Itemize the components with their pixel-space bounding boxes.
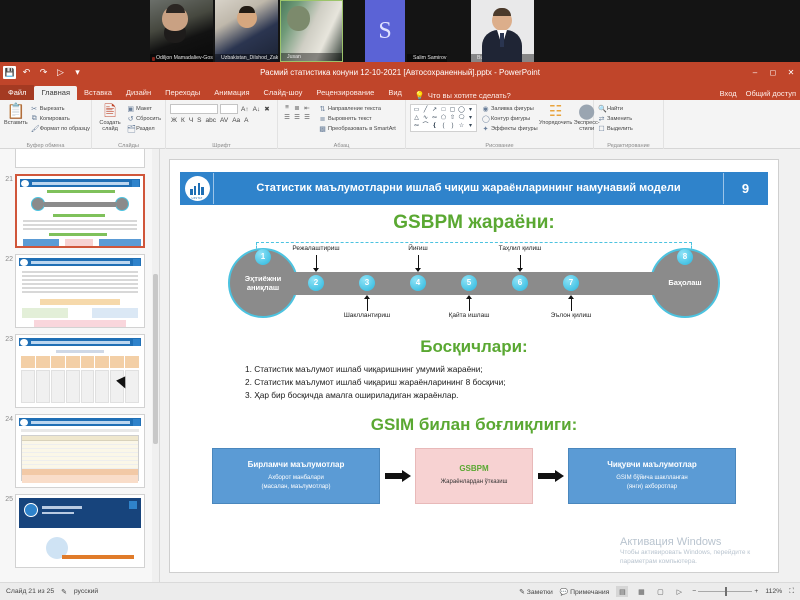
thumb-logo-icon: [21, 180, 29, 187]
step-number-3: 3: [359, 275, 375, 291]
align-text-icon: ≣: [319, 115, 326, 123]
thumbnail-item[interactable]: 23: [0, 331, 159, 411]
thumbnail-preview[interactable]: [15, 254, 145, 328]
paste-label: Вставить: [4, 120, 28, 126]
font-name-input[interactable]: [170, 104, 218, 114]
paste-button[interactable]: 📋 Вставить: [4, 104, 28, 126]
flow-arrow-1: [380, 470, 415, 482]
tab-slideshow[interactable]: Слайд-шоу: [257, 86, 310, 100]
thumbnail-number: 22: [2, 254, 13, 263]
ribbon-group-clipboard: 📋 Вставить ✂ Вырезать ⧉ Копировать 🖌 Фор…: [0, 100, 92, 149]
pointer-arrow: [364, 295, 370, 299]
paste-icon: 📋: [7, 104, 26, 119]
shape-outline-button[interactable]: ◯ Контур фигуры: [482, 115, 538, 123]
thumb-header: [20, 179, 140, 187]
thumbnail-item[interactable]: 24: [0, 411, 159, 491]
stages-list: 1. Статистик маълумот ишлаб чиқаришнинг …: [245, 363, 738, 402]
shape-gallery-more-icon[interactable]: ▾: [466, 114, 475, 122]
slide-sorter-view-button[interactable]: ▦: [635, 586, 647, 597]
windows-activation-watermark: Активация Windows Чтобы активировать Win…: [620, 536, 770, 566]
thumb-header: [19, 418, 141, 426]
shape-rect-icon[interactable]: ▭: [412, 106, 421, 114]
quick-access-toolbar[interactable]: 💾 ↶ ↷ ▷ ▾: [0, 66, 84, 79]
shape-gallery[interactable]: ▭ ╱ ↗ □ ▢ ◯ ▾ △ ∿ ∾ ⬠ ⇧ 🗨 ▾ ∾ ⌒ ❴: [410, 104, 477, 132]
section-heading-gsbpm: GSBPM жараёни:: [170, 212, 778, 234]
thumb-header: [19, 338, 141, 346]
sign-in-label[interactable]: Вход: [720, 89, 737, 98]
arrow-head: [402, 470, 411, 482]
align-text-button[interactable]: ≣ Выровнять текст: [319, 115, 396, 123]
convert-smartart-button[interactable]: ▩ Преобразовать в SmartArt: [319, 125, 396, 133]
video-tile[interactable]: Salim Samirov: [407, 0, 447, 62]
flow-box-title: GSBPM: [459, 464, 488, 473]
ribbon-group-editing: 🔍 Найти ⇄ Заменить ☐ Выделить Редактиров…: [594, 100, 664, 149]
shape-pentagon-icon[interactable]: ⬠: [439, 114, 448, 122]
thumbnail-number: 21: [2, 174, 13, 183]
thumb-number-box: [133, 259, 140, 266]
arrange-button[interactable]: ☷ Упорядочить: [541, 104, 571, 126]
flow-box-output: Чиқувчи маълумотлар GSIM бўйича шаклланг…: [568, 448, 736, 504]
pointer-line: [418, 255, 419, 269]
normal-view-button[interactable]: ▤: [616, 586, 628, 597]
copy-label: Копировать: [40, 116, 70, 122]
shape-arrow-up-icon[interactable]: ⇧: [448, 114, 457, 122]
flow-arrow-2: [533, 470, 568, 482]
shape-fill-label: Заливка фигуры: [491, 106, 534, 112]
video-conference-strip: Odiljon Mamadaliev-Goskom... Uzbakistan_…: [0, 0, 800, 62]
restore-icon[interactable]: ◻: [766, 68, 780, 77]
zoom-level[interactable]: 112%: [765, 588, 782, 595]
quick-styles-icon: ⬤: [578, 104, 595, 119]
slide-header-banner[interactable]: UZSTAT Статистик маълумотларни ишлаб чиқ…: [180, 172, 768, 205]
reset-button[interactable]: ↺ Сбросить: [127, 115, 161, 123]
shape-triangle-icon[interactable]: △: [412, 114, 421, 122]
shape-paren-icon[interactable]: (: [439, 122, 448, 130]
shape-scribble-icon[interactable]: ∾: [412, 122, 421, 130]
close-icon[interactable]: ✕: [784, 68, 798, 77]
new-slide-icon: 🖹: [104, 104, 116, 119]
shape-arrow-icon[interactable]: ↗: [430, 106, 439, 114]
flow-box-line1: GSIM бўйича шаклланган: [616, 474, 687, 483]
align-left-icon[interactable]: ☰: [282, 113, 292, 122]
step-number-4: 4: [410, 275, 426, 291]
flow-box-title: Чиқувчи маълумотлар: [607, 460, 697, 469]
participant-name: Jusan: [281, 53, 342, 61]
font-color-button[interactable]: A: [243, 117, 249, 124]
text-direction-button[interactable]: ⇅ Направление текста: [319, 105, 396, 113]
undo-icon[interactable]: ↶: [20, 66, 33, 79]
ribbon-group-paragraph: ≡ ≣ ⇤ ☰ ☰ ☰ ⇅ Направление текста ≣ Выров…: [278, 100, 406, 149]
comments-button[interactable]: 💬 Примечания: [560, 588, 610, 596]
step-number-2: 2: [308, 275, 324, 291]
thumb-title-bar: [31, 421, 130, 424]
shape-line-icon[interactable]: ╱: [421, 106, 430, 114]
flow-box-input: Бирламчи маълумотлар Ахборот манбалари (…: [212, 448, 380, 504]
ribbon-group-slides: 🖹 Создать слайд ▣ Макет ↺ Сбросить 🗂 Раз…: [92, 100, 166, 149]
slideshow-view-button[interactable]: ▷: [673, 586, 685, 597]
shape-freeform-icon[interactable]: ∾: [430, 114, 439, 122]
tab-view[interactable]: Вид: [381, 86, 409, 100]
replace-button[interactable]: ⇄ Заменить: [598, 115, 633, 123]
decrease-font-icon[interactable]: A↓: [252, 106, 262, 113]
scissors-icon: ✂: [31, 105, 38, 113]
customize-qat-icon[interactable]: ▾: [71, 66, 84, 79]
flow-box-line1: Ахборот манбалари: [268, 474, 324, 483]
thumbnail-preview[interactable]: [15, 414, 145, 488]
tab-insert[interactable]: Вставка: [77, 86, 119, 100]
thumbnail-item[interactable]: 20: [0, 149, 159, 171]
thumbnail-item-selected[interactable]: 21: [0, 171, 159, 251]
pointer-line: [469, 298, 470, 311]
find-button[interactable]: 🔍 Найти: [598, 105, 633, 113]
arrange-icon: ☷: [549, 104, 562, 119]
window-controls[interactable]: – ◻ ✕: [748, 68, 798, 77]
avatar: S: [378, 18, 391, 45]
thumb-header: [19, 258, 141, 266]
smartart-icon: ▩: [319, 125, 326, 133]
video-tile[interactable]: Bunyod Utanov: [471, 0, 534, 62]
slide-thumbnail-pane[interactable]: 20 21: [0, 149, 160, 582]
character-spacing-button[interactable]: AV: [219, 117, 229, 124]
thumb-title-bar: [31, 341, 130, 344]
watermark-subtitle: Чтобы активировать Windows, перейдите к …: [620, 548, 770, 566]
list-item: 3. Ҳар бир босқичда амалга ошириладиган …: [245, 389, 738, 402]
thumbnail-item[interactable]: 25: [0, 491, 159, 571]
zoom-in-icon[interactable]: +: [754, 588, 758, 595]
cut-label: Вырезать: [40, 106, 65, 112]
step-label-4: Йиғиш: [408, 245, 428, 252]
arrow-stem: [538, 473, 555, 479]
participant-name: Uzbakistan_Dilshod_Zakirov: [215, 54, 278, 62]
shadow-button[interactable]: S: [196, 117, 202, 124]
align-center-icon[interactable]: ☰: [292, 113, 302, 122]
ribbon-group-font: A↑ A↓ ✖ Ж К Ч S abc AV Aa A Шрифт: [166, 100, 278, 149]
step-number-1: 1: [255, 249, 271, 265]
shape-outline-icon: ◯: [482, 115, 489, 123]
zoom-slider[interactable]: − +: [692, 588, 758, 595]
thumbnail-item[interactable]: 22: [0, 251, 159, 331]
uzstat-logo: UZSTAT: [181, 173, 214, 204]
start-label-line1: Эҳтиёжни: [245, 274, 281, 283]
scrollbar-thumb[interactable]: [153, 274, 158, 444]
tab-animations[interactable]: Анимация: [207, 86, 256, 100]
participant-name: Odiljon Mamadaliev-Goskom...: [150, 54, 213, 62]
layout-button[interactable]: ▣ Макет: [127, 105, 161, 113]
thumbnail-preview[interactable]: [15, 149, 145, 168]
decor: [500, 33, 504, 47]
shape-oval-icon[interactable]: ◯: [457, 106, 466, 114]
font-size-input[interactable]: [220, 104, 238, 114]
zoom-out-icon[interactable]: −: [692, 588, 696, 595]
select-button[interactable]: ☐ Выделить: [598, 125, 633, 133]
shape-effects-icon: ✦: [482, 125, 489, 133]
tab-design[interactable]: Дизайн: [119, 86, 158, 100]
save-icon[interactable]: 💾: [3, 66, 16, 79]
reading-view-button[interactable]: ▢: [654, 586, 666, 597]
slide-title: Статистик маълумотларни ишлаб чиқиш жара…: [214, 182, 723, 194]
notes-button[interactable]: ✎ Заметки: [519, 588, 553, 596]
video-tile[interactable]: Jusan: [280, 0, 343, 62]
flow-box-line1: Жараёнлардан ўтказиш: [441, 478, 508, 487]
section-heading-stages: Босқичлари:: [170, 337, 778, 357]
copy-icon: ⧉: [31, 115, 38, 123]
step-number-5: 5: [461, 275, 477, 291]
decrease-indent-icon[interactable]: ⇤: [302, 104, 312, 113]
list-item: 1. Статистик маълумот ишлаб чиқаришнинг …: [245, 363, 738, 376]
video-tile[interactable]: Odiljon Mamadaliev-Goskom...: [150, 0, 213, 62]
gsbpm-process-diagram: Эҳтиёжни аниқлаш 1 Баҳолаш 8 2 3 4 5 6: [228, 240, 720, 325]
layout-icon: ▣: [127, 105, 134, 113]
participant-name: Bunyod Utanov: [471, 54, 534, 62]
minimize-icon[interactable]: –: [748, 68, 762, 77]
new-slide-button[interactable]: 🖹 Создать слайд: [96, 104, 124, 132]
shape-scroll-icon[interactable]: ▾: [466, 122, 475, 130]
pointer-arrow: [568, 295, 574, 299]
replace-label: Заменить: [607, 116, 632, 122]
change-case-button[interactable]: Aa: [231, 117, 241, 124]
share-label[interactable]: Общий доступ: [746, 89, 796, 98]
pointer-line: [520, 255, 521, 269]
title-bar: 💾 ↶ ↷ ▷ ▾ Расмий статистика конуни 12-10…: [0, 62, 800, 83]
pointer-line: [571, 298, 572, 311]
format-painter-label: Формат по образцу: [40, 126, 90, 132]
tell-me-search[interactable]: 💡 Что вы хотите сделать?: [409, 91, 511, 100]
window-title: Расмий статистика конуни 12-10-2021 [Авт…: [0, 68, 800, 77]
flow-box-line2: (янги) ахборотлар: [627, 483, 677, 492]
watermark-title: Активация Windows: [620, 536, 770, 548]
ribbon: 📋 Вставить ✂ Вырезать ⧉ Копировать 🖌 Фор…: [0, 100, 800, 149]
underline-button[interactable]: Ч: [188, 117, 194, 124]
powerpoint-window: 💾 ↶ ↷ ▷ ▾ Расмий статистика конуни 12-10…: [0, 62, 800, 600]
logo-circle: UZSTAT: [185, 176, 210, 201]
pointer-arrow: [517, 268, 523, 272]
slide-canvas-area: UZSTAT Статистик маълумотларни ишлаб чиқ…: [160, 149, 788, 582]
thumb-logo-icon: [20, 259, 28, 266]
thumbnail-number: 25: [2, 494, 13, 503]
start-slideshow-icon[interactable]: ▷: [54, 66, 67, 79]
shape-fill-icon: ◉: [482, 105, 489, 113]
thumbnail-preview[interactable]: [15, 174, 145, 248]
step-label-7: Эълон қилиш: [551, 312, 592, 319]
shape-rounded-icon[interactable]: ▢: [448, 106, 457, 114]
text-direction-label: Направление текста: [328, 106, 381, 112]
shape-curve-icon[interactable]: ∿: [421, 114, 430, 122]
strikethrough-button[interactable]: abc: [205, 117, 217, 124]
logo-bars-icon: [190, 182, 203, 195]
clear-formatting-icon[interactable]: ✖: [263, 105, 270, 113]
find-label: Найти: [607, 106, 623, 112]
language-label[interactable]: русский: [74, 588, 98, 595]
numbering-icon[interactable]: ≣: [292, 104, 302, 113]
shape-callout-icon[interactable]: 🗨: [457, 114, 466, 122]
thumbnail-scrollbar[interactable]: [152, 149, 159, 582]
status-bar: Слайд 21 из 25 ✎ русский ✎ Заметки 💬 При…: [0, 582, 800, 600]
shape-fill-button[interactable]: ◉ Заливка фигуры: [482, 105, 538, 113]
shape-effects-button[interactable]: ✦ Эффекты фигуры: [482, 125, 538, 133]
replace-icon: ⇄: [598, 115, 605, 123]
shape-more-icon[interactable]: ▾: [466, 106, 475, 114]
pointer-arrow: [313, 268, 319, 272]
arrange-label: Упорядочить: [539, 120, 572, 126]
thumbnail-preview[interactable]: [15, 334, 145, 408]
work-area: 20 21: [0, 149, 800, 582]
bullets-icon[interactable]: ≡: [282, 104, 292, 113]
list-item: 2. Статистик маълумот ишлаб чиқариш жара…: [245, 376, 738, 389]
thumbnail-number: 24: [2, 414, 13, 423]
ribbon-group-drawing: ▭ ╱ ↗ □ ▢ ◯ ▾ △ ∿ ∾ ⬠ ⇧ 🗨 ▾ ∾ ⌒ ❴: [406, 100, 594, 149]
flow-box-line2: (масалан, маълумотлар): [261, 483, 330, 492]
slide-canvas[interactable]: UZSTAT Статистик маълумотларни ишлаб чиқ…: [169, 159, 779, 573]
thumb-logo-icon: [20, 339, 28, 346]
end-label: Баҳолаш: [668, 278, 701, 287]
format-painter-button[interactable]: 🖌 Формат по образцу: [31, 125, 90, 133]
align-text-label: Выровнять текст: [328, 116, 372, 122]
bold-button[interactable]: Ж: [170, 117, 178, 124]
step-label-6: Таҳлил қилиш: [499, 245, 542, 252]
thumb-logo-icon: [20, 419, 28, 426]
ribbon-tab-bar: Файл Главная Вставка Дизайн Переходы Ани…: [0, 83, 800, 100]
lightbulb-icon: 💡: [415, 91, 425, 100]
paragraph-icon-grid[interactable]: ≡ ≣ ⇤ ☰ ☰ ☰: [282, 104, 312, 122]
text-direction-icon: ⇅: [319, 105, 326, 113]
step-label-3: Шакллантириш: [344, 312, 390, 319]
spell-check-icon[interactable]: ✎: [61, 588, 67, 596]
section-label: Раздел: [136, 126, 155, 132]
layout-label: Макет: [136, 106, 152, 112]
gsim-flow-diagram: Бирламчи маълумотлар Ахборот манбалари (…: [212, 445, 736, 507]
increase-font-icon[interactable]: A↑: [240, 106, 250, 113]
video-tile[interactable]: Uzbakistan_Dilshod_Zakirov: [215, 0, 278, 62]
thumb-number-box: [133, 339, 140, 346]
decor: [493, 8, 511, 16]
paintbrush-icon: 🖌: [31, 125, 38, 133]
start-label-line2: аниқлаш: [247, 283, 279, 292]
thumbnail-number: 23: [2, 334, 13, 343]
slide-number-badge: 9: [723, 173, 767, 204]
step-number-7: 7: [563, 275, 579, 291]
pointer-arrow: [466, 295, 472, 299]
thumb-number-box: [132, 180, 139, 187]
step-number-8: 8: [677, 249, 693, 265]
shape-paren2-icon[interactable]: ): [448, 122, 457, 130]
shape-arc-icon[interactable]: ⌒: [421, 122, 430, 130]
convert-smartart-label: Преобразовать в SmartArt: [328, 126, 396, 132]
section-icon: 🗂: [127, 125, 134, 133]
zoom-track[interactable]: [698, 591, 752, 592]
arrow-head: [555, 470, 564, 482]
thumbnail-preview[interactable]: [15, 494, 145, 568]
tab-transitions[interactable]: Переходы: [158, 86, 207, 100]
align-right-icon[interactable]: ☰: [302, 113, 312, 122]
shape-square-icon[interactable]: □: [439, 106, 448, 114]
italic-button[interactable]: К: [180, 117, 186, 124]
select-label: Выделить: [607, 126, 633, 132]
arrow-stem: [385, 473, 402, 479]
tab-file[interactable]: Файл: [0, 85, 34, 100]
reset-label: Сбросить: [136, 116, 161, 122]
pointer-line: [367, 298, 368, 311]
zoom-knob[interactable]: [725, 587, 727, 596]
shape-effects-label: Эффекты фигуры: [491, 126, 538, 132]
step-label-2: Режалаштириш: [292, 245, 339, 252]
fit-slide-icon[interactable]: ⛶: [789, 588, 794, 596]
select-icon: ☐: [598, 125, 605, 133]
logo-subtext: UZSTAT: [192, 197, 203, 200]
tell-me-label: Что вы хотите сделать?: [428, 91, 511, 100]
copy-button[interactable]: ⧉ Копировать: [31, 115, 90, 123]
new-slide-label: Создать слайд: [96, 120, 124, 132]
vertical-ruler: [788, 149, 800, 582]
cut-button[interactable]: ✂ Вырезать: [31, 105, 90, 113]
section-button[interactable]: 🗂 Раздел: [127, 125, 161, 133]
tab-home[interactable]: Главная: [34, 86, 77, 100]
reset-icon: ↺: [127, 115, 134, 123]
pointer-arrow: [415, 268, 421, 272]
flow-box-process: GSBPM Жараёнлардан ўтказиш: [415, 448, 533, 504]
tab-review[interactable]: Рецензирование: [309, 86, 381, 100]
slide-counter: Слайд 21 из 25: [6, 588, 54, 595]
flow-box-title: Бирламчи маълумотлар: [248, 460, 345, 469]
video-tile-avatar[interactable]: S: [365, 0, 405, 62]
participant-name: Salim Samirov: [407, 54, 447, 62]
search-icon: 🔍: [598, 105, 605, 113]
shape-star-icon[interactable]: ☆: [457, 122, 466, 130]
redo-icon[interactable]: ↷: [37, 66, 50, 79]
step-number-6: 6: [512, 275, 528, 291]
pointer-line: [316, 255, 317, 269]
section-heading-gsim: GSIM билан боғлиқлиги:: [170, 415, 778, 435]
thumb-number-box: [133, 419, 140, 426]
step-label-5: Қайта ишлаш: [449, 312, 490, 319]
shape-bracket-icon[interactable]: ❴: [430, 122, 439, 130]
thumb-title-bar: [31, 261, 130, 264]
thumb-title-bar: [32, 182, 129, 185]
shape-outline-label: Контур фигуры: [491, 116, 530, 122]
account-area[interactable]: Вход Общий доступ: [720, 89, 796, 98]
